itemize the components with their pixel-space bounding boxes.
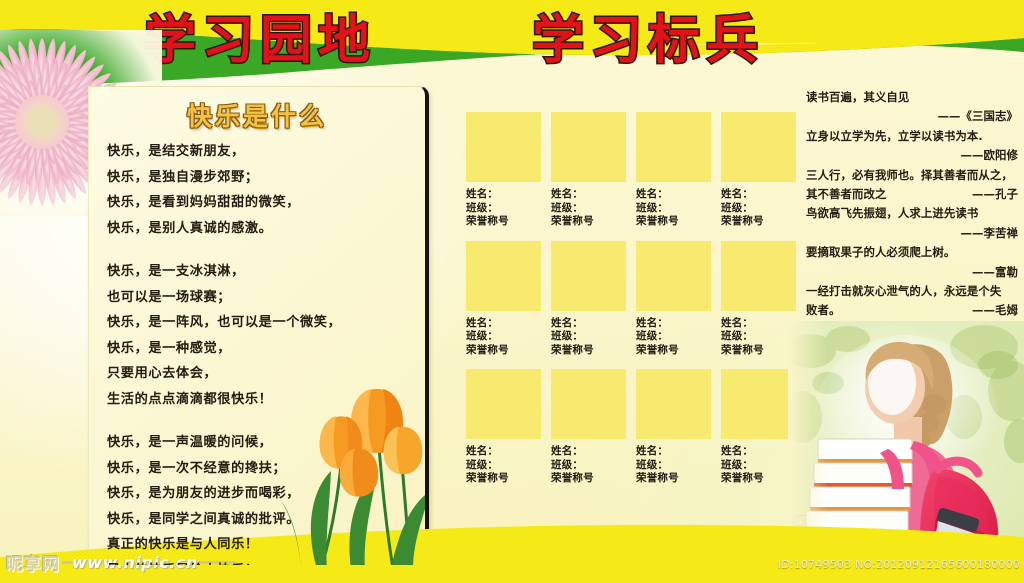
student-honor-label: 荣誉称号 <box>721 344 796 358</box>
student-photo-placeholder[interactable] <box>636 241 711 311</box>
student-name-label: 姓名： <box>551 188 626 202</box>
student-class-label: 班级： <box>466 459 541 473</box>
student-class-label: 班级： <box>721 202 796 216</box>
student-name-label: 姓名： <box>466 317 541 331</box>
student-class-label: 班级： <box>551 330 626 344</box>
student-info: 姓名： 班级： 荣誉称号 <box>636 188 711 229</box>
student-info: 姓名： 班级： 荣誉称号 <box>636 317 711 358</box>
student-name-label: 姓名： <box>721 445 796 459</box>
student-honor-label: 荣誉称号 <box>551 344 626 358</box>
student-name-label: 姓名： <box>636 445 711 459</box>
student-class-label: 班级： <box>636 202 711 216</box>
student-honor-label: 荣誉称号 <box>466 344 541 358</box>
student-cell[interactable]: 姓名： 班级： 荣誉称号 <box>466 241 541 358</box>
quote-text: 读书百遍，其义自见 <box>806 88 1018 107</box>
quotes-column: 读书百遍，其义自见——《三国志》立身以立学为先，立学以读书为本.——欧阳修三人行… <box>806 88 1018 321</box>
student-honor-label: 荣誉称号 <box>466 215 541 229</box>
student-info: 姓名： 班级： 荣誉称号 <box>721 317 796 358</box>
student-honor-label: 荣誉称号 <box>636 472 711 486</box>
student-info: 姓名： 班级： 荣誉称号 <box>466 188 541 229</box>
quote-attribution: ——孔子 <box>972 185 1018 204</box>
student-photo-placeholder[interactable] <box>721 241 796 311</box>
quote-text: 其不善者而改之 <box>806 185 886 204</box>
student-honor-label: 荣誉称号 <box>551 472 626 486</box>
student-class-label: 班级： <box>466 330 541 344</box>
student-photo-placeholder[interactable] <box>721 112 796 182</box>
student-class-label: 班级： <box>466 202 541 216</box>
left-poem-panel: 快乐是什么 快乐，是结交新朋友，快乐，是独自漫步郊野；快乐，是看到妈妈甜甜的微笑… <box>88 86 429 569</box>
honor-students-grid: 姓名： 班级： 荣誉称号 姓名： 班级： 荣誉称号 姓名： 班级： 荣誉称号 姓… <box>466 112 796 486</box>
student-cell[interactable]: 姓名： 班级： 荣誉称号 <box>721 241 796 358</box>
student-class-label: 班级： <box>721 330 796 344</box>
student-name-label: 姓名： <box>466 445 541 459</box>
student-honor-label: 荣誉称号 <box>636 344 711 358</box>
poem-line: 快乐，是独自漫步郊野； <box>107 165 413 191</box>
poem-line: 快乐，是一阵风，也可以是一个微笑， <box>107 310 413 336</box>
poem-line: 真正的快乐是与人同乐！ <box>107 532 413 558</box>
student-class-label: 班级： <box>721 459 796 473</box>
student-photo-placeholder[interactable] <box>721 369 796 439</box>
student-photo-placeholder[interactable] <box>636 369 711 439</box>
student-photo-placeholder[interactable] <box>551 369 626 439</box>
student-photo-placeholder[interactable] <box>466 369 541 439</box>
quote-text: 一经打击就灰心泄气的人，永远是个失 <box>806 282 1018 301</box>
poem-line: 快乐，是一支冰淇淋， <box>107 259 413 285</box>
quote-attribution: ——富勒 <box>806 263 1018 282</box>
student-photo-placeholder[interactable] <box>466 112 541 182</box>
poem-line: 生活的点点滴滴都很快乐！ <box>107 387 413 413</box>
student-info: 姓名： 班级： 荣誉称号 <box>636 445 711 486</box>
quote-attribution: ——欧阳修 <box>806 146 1018 165</box>
poem-line: 快乐，是为朋友的进步而喝彩， <box>107 481 413 507</box>
poem-stanza-gap <box>107 241 413 259</box>
student-honor-label: 荣誉称号 <box>466 472 541 486</box>
poem-heading: 快乐是什么 <box>89 97 425 133</box>
quote-attribution: ——李苦禅 <box>806 224 1018 243</box>
poem-line: 快乐，是一声温暖的问候， <box>107 430 413 456</box>
student-info: 姓名： 班级： 荣誉称号 <box>466 317 541 358</box>
student-info: 姓名： 班级： 荣誉称号 <box>721 445 796 486</box>
poem-line: 快乐，是一次不经意的搀扶； <box>107 456 413 482</box>
poem-line: 快乐，是看到妈妈甜甜的微笑， <box>107 190 413 216</box>
student-photo-placeholder[interactable] <box>636 112 711 182</box>
student-info: 姓名： 班级： 荣誉称号 <box>551 188 626 229</box>
student-cell[interactable]: 姓名： 班级： 荣誉称号 <box>636 369 711 486</box>
student-name-label: 姓名： <box>551 317 626 331</box>
student-name-label: 姓名： <box>466 188 541 202</box>
quote-text: 三人行，必有我师也。择其善者而从之， <box>806 166 1018 185</box>
poem-line: 只要用心去体会， <box>107 361 413 387</box>
student-cell[interactable]: 姓名： 班级： 荣誉称号 <box>721 112 796 229</box>
student-name-label: 姓名： <box>636 317 711 331</box>
student-info: 姓名： 班级： 荣誉称号 <box>466 445 541 486</box>
student-cell[interactable]: 姓名： 班级： 荣誉称号 <box>551 241 626 358</box>
student-info: 姓名： 班级： 荣誉称号 <box>551 317 626 358</box>
student-cell[interactable]: 姓名： 班级： 荣誉称号 <box>466 369 541 486</box>
quote-text: 败者。 <box>806 301 840 320</box>
student-cell[interactable]: 姓名： 班级： 荣誉称号 <box>636 112 711 229</box>
student-cell[interactable]: 姓名： 班级： 荣誉称号 <box>466 112 541 229</box>
student-cell[interactable]: 姓名： 班级： 荣誉称号 <box>721 369 796 486</box>
poem-line: 快乐，是结交新朋友， <box>107 139 413 165</box>
student-class-label: 班级： <box>551 202 626 216</box>
quote-line: 其不善者而改之 ——孔子 <box>806 185 1018 204</box>
student-class-label: 班级： <box>636 330 711 344</box>
student-honor-label: 荣誉称号 <box>551 215 626 229</box>
quote-text: 立身以立学为先，立学以读书为本. <box>806 127 1018 146</box>
student-honor-label: 荣誉称号 <box>721 472 796 486</box>
student-info: 姓名： 班级： 荣誉称号 <box>721 188 796 229</box>
poem-body: 快乐，是结交新朋友，快乐，是独自漫步郊野；快乐，是看到妈妈甜甜的微笑，快乐，是别… <box>89 139 425 569</box>
student-cell[interactable]: 姓名： 班级： 荣誉称号 <box>636 241 711 358</box>
student-honor-label: 荣誉称号 <box>721 215 796 229</box>
poem-line: 快乐，是别人真诚的感激。 <box>107 216 413 242</box>
poem-stanza-gap <box>107 412 413 430</box>
quote-text: 要摘取果子的人必须爬上树。 <box>806 243 1018 262</box>
student-name-label: 姓名： <box>721 188 796 202</box>
student-photo-placeholder[interactable] <box>551 241 626 311</box>
poem-line: 也可以是一场球赛； <box>107 285 413 311</box>
student-photo-placeholder[interactable] <box>466 241 541 311</box>
student-cell[interactable]: 姓名： 班级： 荣誉称号 <box>551 369 626 486</box>
image-id-watermark: ID:10749503 NO:20120912165600180000 <box>778 558 1020 571</box>
poem-line: 快乐，是一种感觉， <box>107 336 413 362</box>
site-badge: 昵享网 <box>4 550 62 575</box>
student-info: 姓名： 班级： 荣誉称号 <box>551 445 626 486</box>
quote-line: 败者。 ——毛姆 <box>806 301 1018 320</box>
student-photo-placeholder[interactable] <box>551 112 626 182</box>
quote-text: 鸟欲高飞先振翅，人求上进先读书 <box>806 204 1018 223</box>
student-name-label: 姓名： <box>721 317 796 331</box>
poster-canvas: 学习园地 学习标兵 <box>0 0 1024 583</box>
quote-attribution: ——《三国志》 <box>806 107 1018 126</box>
student-class-label: 班级： <box>551 459 626 473</box>
student-cell[interactable]: 姓名： 班级： 荣誉称号 <box>551 112 626 229</box>
student-name-label: 姓名： <box>636 188 711 202</box>
student-honor-label: 荣誉称号 <box>636 215 711 229</box>
poem-line: 快乐，是同学之间真诚的批评。 <box>107 507 413 533</box>
student-name-label: 姓名： <box>551 445 626 459</box>
quote-attribution: ——毛姆 <box>972 301 1018 320</box>
student-class-label: 班级： <box>636 459 711 473</box>
